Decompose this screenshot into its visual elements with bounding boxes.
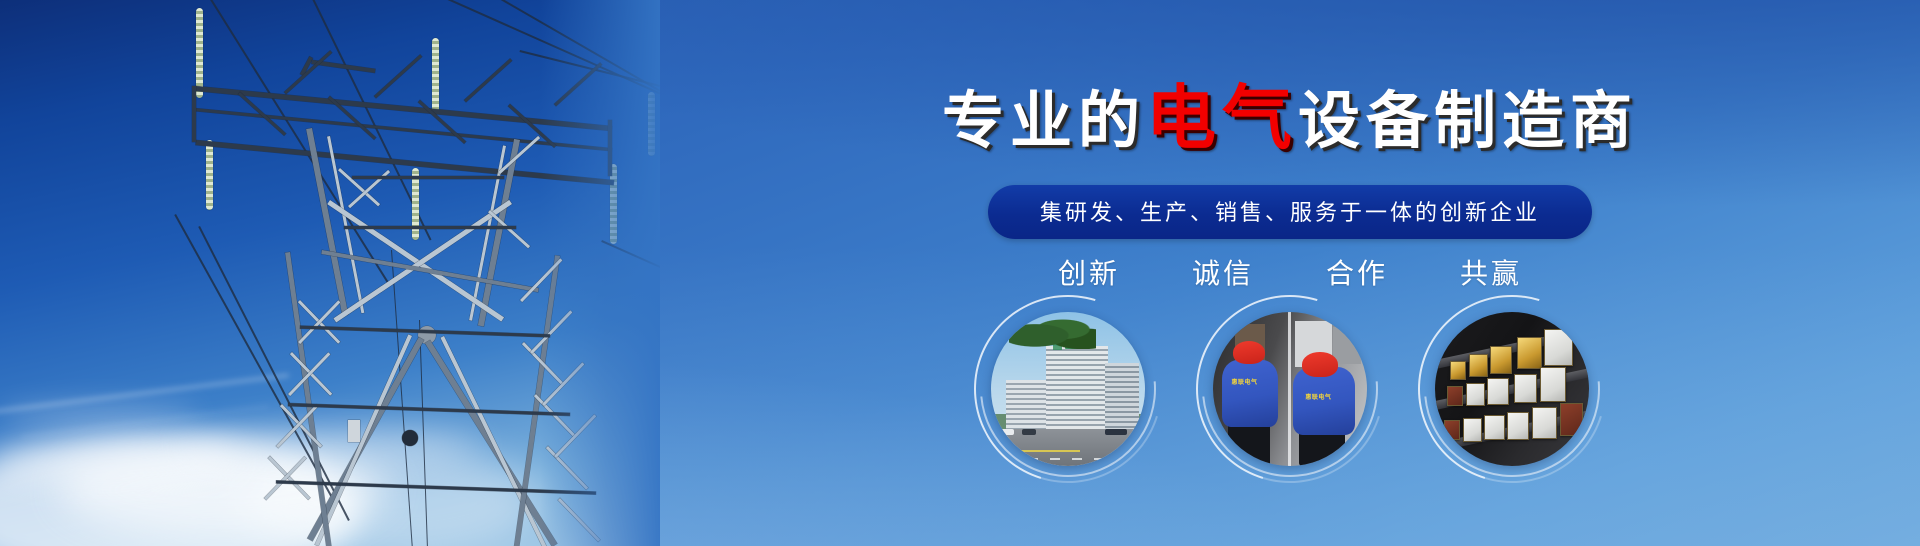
certificates-wall-photo xyxy=(1435,312,1589,466)
keyword-list: 创新 诚信 合作 共赢 xyxy=(660,252,1920,292)
insulator-string xyxy=(432,38,439,114)
photo-circle-office[interactable] xyxy=(991,312,1145,466)
subtitle-text: 集研发、生产、销售、服务于一体的创新企业 xyxy=(1040,201,1540,226)
hero-banner: 专业的电气设备制造商 集研发、生产、销售、服务于一体的创新企业 创新 诚信 合作… xyxy=(0,0,1920,546)
photo-circle-workers[interactable]: 惠联电气 惠联电气 xyxy=(1213,312,1367,466)
tree-foliage xyxy=(1009,315,1095,349)
hard-hat-icon xyxy=(1302,352,1337,377)
uniform-text: 惠联电气 xyxy=(1305,392,1331,401)
headline-accent: 电气 xyxy=(1146,77,1298,159)
headline-part-2: 设备制造商 xyxy=(1298,84,1638,157)
insulator-string xyxy=(206,140,213,210)
insulator-string xyxy=(610,164,617,244)
page-title: 专业的电气设备制造商 xyxy=(660,62,1920,163)
keyword-integrity: 诚信 xyxy=(1188,252,1258,292)
insulator-string xyxy=(648,92,655,156)
photo-circle-group: 惠联电气 惠联电气 xyxy=(660,312,1920,466)
photo-circle-certificates[interactable] xyxy=(1435,312,1589,466)
workers-installation-photo: 惠联电气 惠联电气 xyxy=(1213,312,1367,466)
hard-hat-icon xyxy=(1233,341,1265,364)
pylon-structure xyxy=(0,0,660,546)
keyword-innovation: 创新 xyxy=(1054,252,1124,292)
subtitle-pill: 集研发、生产、销售、服务于一体的创新企业 xyxy=(988,185,1592,239)
keyword-cooperation: 合作 xyxy=(1322,252,1392,292)
uniform-text: 惠联电气 xyxy=(1231,377,1257,386)
insulator-string xyxy=(196,8,203,98)
keyword-winwin: 共赢 xyxy=(1456,252,1526,292)
banner-content: 专业的电气设备制造商 集研发、生产、销售、服务于一体的创新企业 创新 诚信 合作… xyxy=(660,0,1920,546)
headline-part-1: 专业的 xyxy=(942,84,1146,157)
office-building-photo xyxy=(991,312,1145,466)
transmission-tower-photo xyxy=(0,0,660,546)
